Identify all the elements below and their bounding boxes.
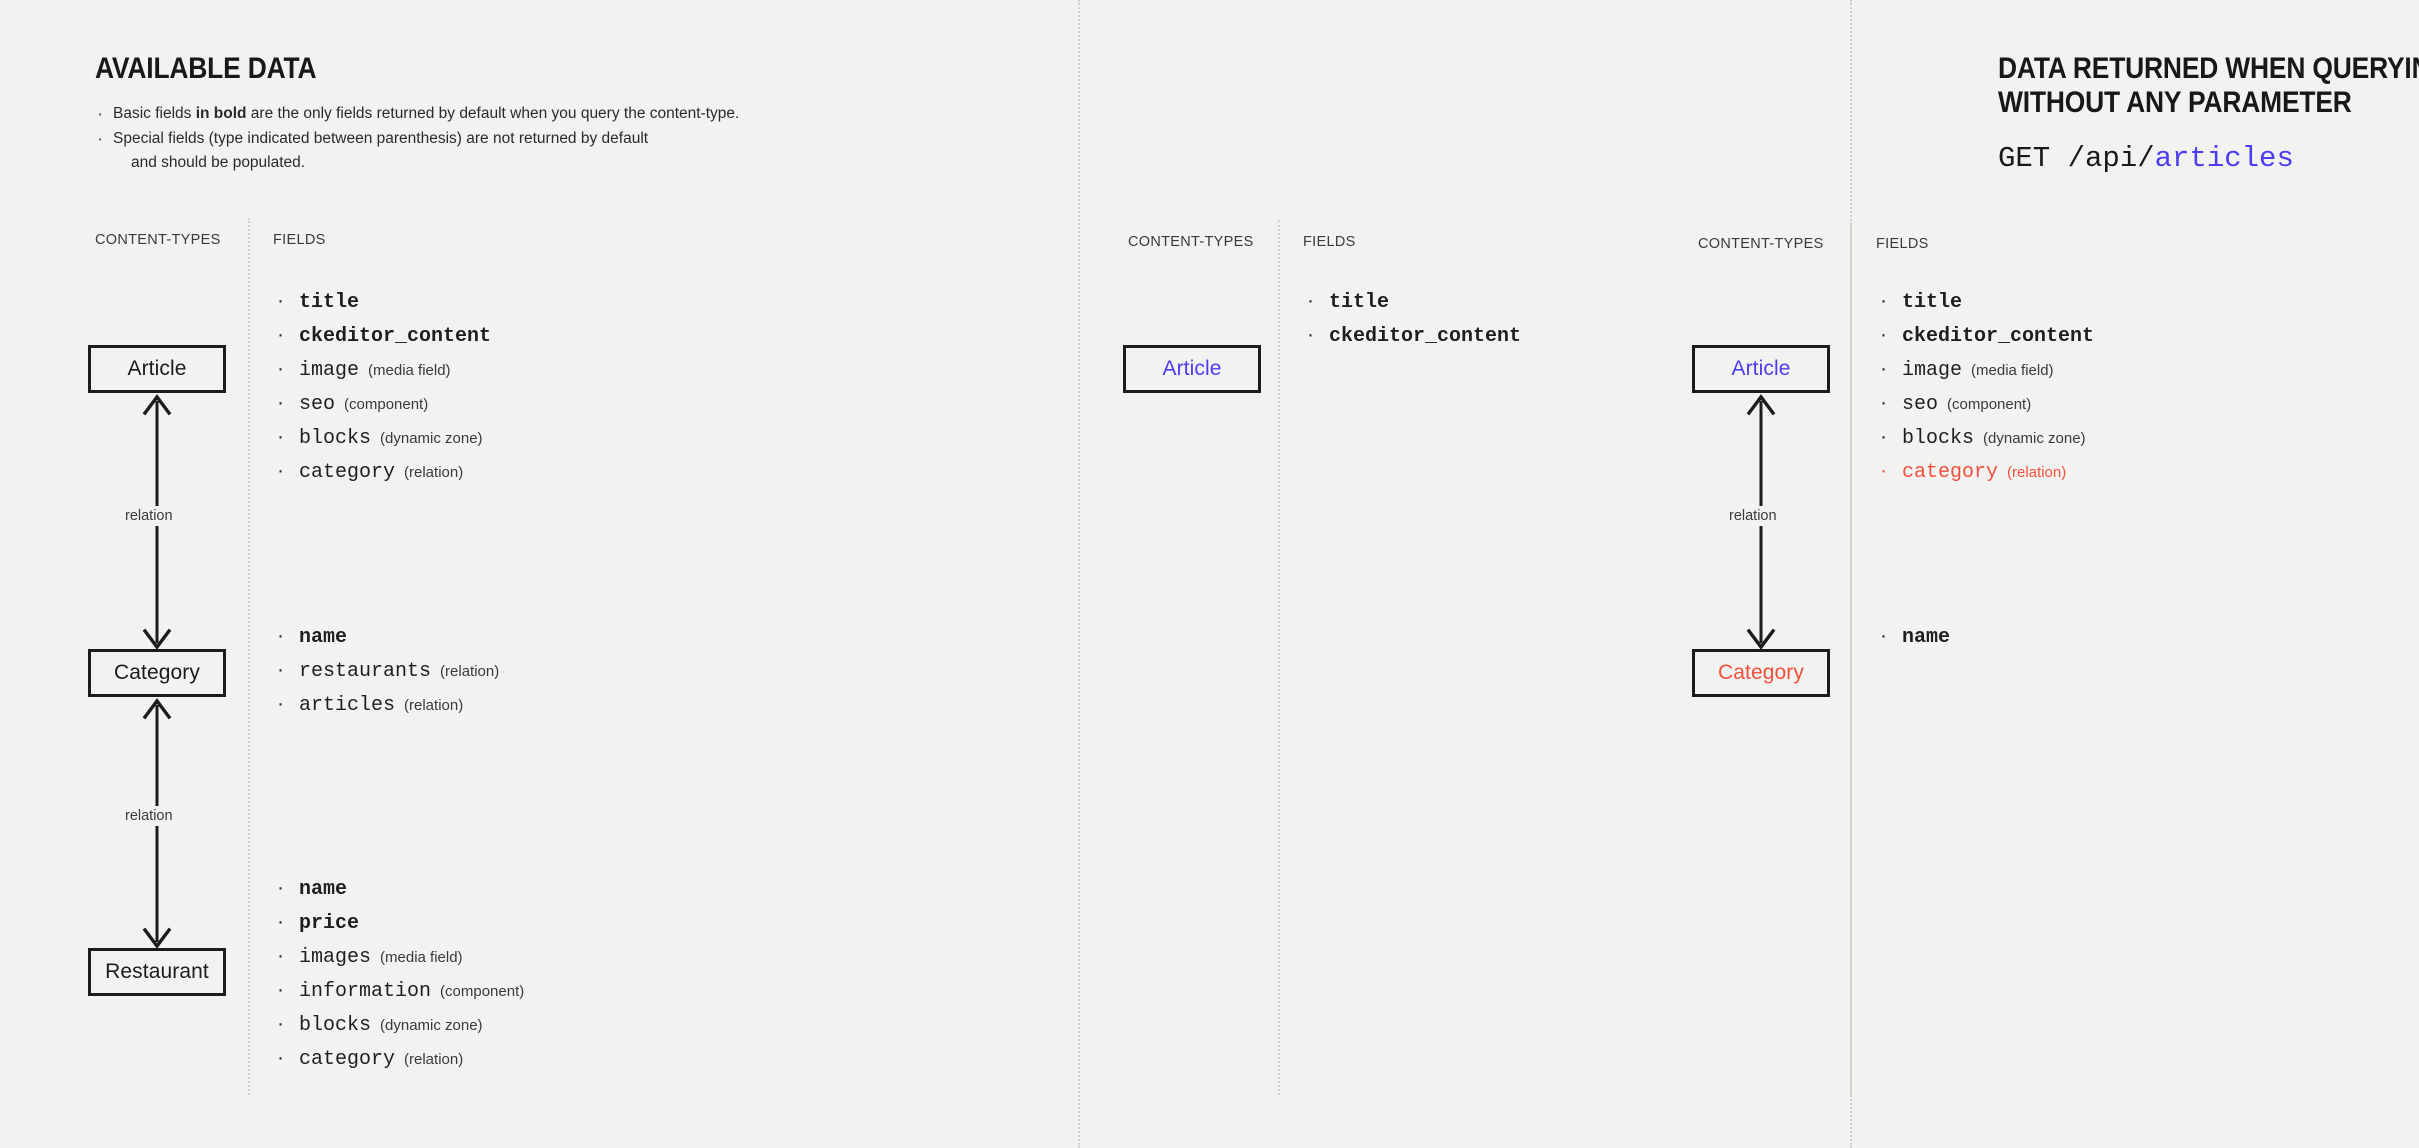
intro-bullet-2: Special fields (type indicated between p…: [95, 127, 855, 175]
inner-divider-populate: [1850, 222, 1852, 1095]
field-item: articles(relation): [273, 693, 499, 719]
intro-2-continuation: and should be populated.: [113, 151, 855, 175]
field-name: blocks: [1902, 427, 1974, 450]
field-item: information(component): [273, 979, 524, 1005]
field-list-article-noparam: title ckeditor_content: [1303, 290, 1521, 358]
entity-label: Article: [1731, 357, 1790, 381]
field-item: name: [273, 877, 524, 903]
entity-box-category-populate[interactable]: Category: [1692, 649, 1830, 697]
field-name: blocks: [299, 427, 371, 450]
field-name: category: [299, 1048, 395, 1071]
field-item: blocks(dynamic zone): [273, 426, 491, 452]
field-name: category: [1902, 461, 1998, 484]
field-item: name: [1876, 625, 1950, 651]
intro-bullet-list: Basic fields in bold are the only fields…: [95, 102, 855, 176]
field-item: blocks(dynamic zone): [1876, 426, 2094, 452]
field-name: price: [299, 912, 359, 935]
field-name: title: [299, 291, 359, 314]
field-item: price: [273, 911, 524, 937]
relation-label-populate: relation: [1724, 506, 1782, 526]
field-name: images: [299, 946, 371, 969]
field-name: image: [1902, 359, 1962, 382]
field-type: (media field): [380, 949, 463, 966]
entity-box-article-available[interactable]: Article: [88, 345, 226, 393]
field-name: articles: [299, 694, 395, 717]
field-item: title: [1303, 290, 1521, 316]
field-list-article-available: title ckeditor_content image(media field…: [273, 290, 491, 494]
field-list-category-populate: name: [1876, 625, 1950, 659]
diagram-canvas: AVAILABLE DATA Basic fields in bold are …: [0, 0, 2419, 1148]
entity-box-article-populate[interactable]: Article: [1692, 345, 1830, 393]
field-item: ckeditor_content: [1303, 324, 1521, 350]
relation-label-article-category: relation: [120, 506, 178, 526]
intro-bullet-1: Basic fields in bold are the only fields…: [95, 102, 855, 126]
field-type: (component): [344, 396, 428, 413]
intro-2-pre: Special fields (type indicated between p…: [113, 130, 648, 147]
field-type: (media field): [1971, 362, 2054, 379]
entity-box-restaurant-available[interactable]: Restaurant: [88, 948, 226, 996]
field-name: information: [299, 980, 431, 1003]
field-item: restaurants(relation): [273, 659, 499, 685]
field-type: (relation): [2007, 464, 2066, 481]
label-fields-populate: FIELDS: [1876, 236, 1929, 252]
field-type: (relation): [404, 697, 463, 714]
field-item: seo(component): [273, 392, 491, 418]
field-type: (relation): [404, 464, 463, 481]
field-item: name: [273, 625, 499, 651]
panel-available-heading: AVAILABLE DATA: [95, 52, 347, 86]
inner-divider-noparam: [1278, 220, 1280, 1095]
field-name: category: [299, 461, 395, 484]
field-type: (relation): [440, 663, 499, 680]
label-content-types-populate: CONTENT-TYPES: [1698, 236, 1824, 252]
field-item: category(relation): [273, 460, 491, 486]
field-name: title: [1329, 291, 1389, 314]
field-name: name: [299, 626, 347, 649]
field-list-category-available: name restaurants(relation) articles(rela…: [273, 625, 499, 727]
field-type: (dynamic zone): [1983, 430, 2086, 447]
field-type: (dynamic zone): [380, 430, 483, 447]
field-item: image(media field): [1876, 358, 2094, 384]
field-item: images(media field): [273, 945, 524, 971]
label-fields-noparam: FIELDS: [1303, 234, 1356, 250]
field-name: ckeditor_content: [1902, 325, 2094, 348]
field-name: restaurants: [299, 660, 431, 683]
label-content-types-available: CONTENT-TYPES: [95, 232, 221, 248]
field-name: name: [299, 878, 347, 901]
intro-1-post: are the only fields returned by default …: [247, 105, 740, 122]
entity-label: Article: [127, 357, 186, 381]
field-item-highlighted: category(relation): [1876, 460, 2094, 486]
field-item: ckeditor_content: [1876, 324, 2094, 350]
label-fields-available: FIELDS: [273, 232, 326, 248]
field-name: name: [1902, 626, 1950, 649]
field-type: (dynamic zone): [380, 1017, 483, 1034]
field-type: (component): [1947, 396, 2031, 413]
field-item: image(media field): [273, 358, 491, 384]
field-item: title: [1876, 290, 2094, 316]
field-name: seo: [1902, 393, 1938, 416]
entity-label: Restaurant: [105, 960, 209, 984]
field-list-article-populate: title ckeditor_content image(media field…: [1876, 290, 2094, 494]
field-item: title: [273, 290, 491, 316]
intro-1-pre: Basic fields: [113, 105, 196, 122]
field-item: ckeditor_content: [273, 324, 491, 350]
panel-available-title: AVAILABLE DATA: [95, 52, 316, 86]
field-type: (relation): [404, 1051, 463, 1068]
entity-label: Category: [114, 661, 200, 685]
panel-available-data: AVAILABLE DATA Basic fields in bold are …: [0, 0, 1078, 1148]
field-name: blocks: [299, 1014, 371, 1037]
relation-label-category-restaurant: relation: [120, 806, 178, 826]
field-type: (media field): [368, 362, 451, 379]
inner-divider-available: [248, 218, 250, 1095]
field-name: ckeditor_content: [299, 325, 491, 348]
intro-1-bold: in bold: [196, 105, 247, 122]
field-name: ckeditor_content: [1329, 325, 1521, 348]
field-item: blocks(dynamic zone): [273, 1013, 524, 1039]
field-type: (component): [440, 983, 524, 1000]
panel-query-no-parameter: DATA RETURNED WHEN QUERYING ARTICLES WIT…: [1078, 0, 1698, 1148]
field-item: category(relation): [273, 1047, 524, 1073]
label-content-types-noparam: CONTENT-TYPES: [1128, 234, 1254, 250]
entity-label: Article: [1162, 357, 1221, 381]
field-name: title: [1902, 291, 1962, 314]
entity-label: Category: [1718, 661, 1804, 685]
field-name: image: [299, 359, 359, 382]
field-name: seo: [299, 393, 335, 416]
entity-box-article-noparam[interactable]: Article: [1123, 345, 1261, 393]
field-item: seo(component): [1876, 392, 2094, 418]
entity-box-category-available[interactable]: Category: [88, 649, 226, 697]
panel-query-populate: DATA RETURNED WHEN QUERYING ARTICLES AND…: [1698, 0, 2419, 1148]
field-list-restaurant-available: name price images(media field) informati…: [273, 877, 524, 1081]
